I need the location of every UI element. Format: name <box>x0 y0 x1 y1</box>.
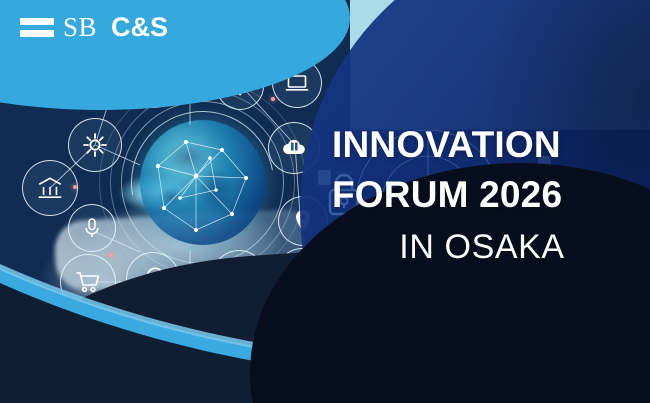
logo-text-cs: C&S <box>111 12 168 43</box>
promo-banner: + + + + + + + <box>0 0 650 403</box>
headline-line-1: INNOVATION <box>332 124 632 165</box>
brand-logo[interactable]: SB C&S <box>20 12 168 43</box>
headline-block: INNOVATION FORUM 2026 IN OSAKA <box>332 124 632 267</box>
headline-line-3: IN OSAKA <box>332 228 632 267</box>
logo-text-sb: SB <box>63 12 97 43</box>
two-bars-icon <box>20 18 54 37</box>
headline-line-2: FORUM 2026 <box>332 174 632 215</box>
